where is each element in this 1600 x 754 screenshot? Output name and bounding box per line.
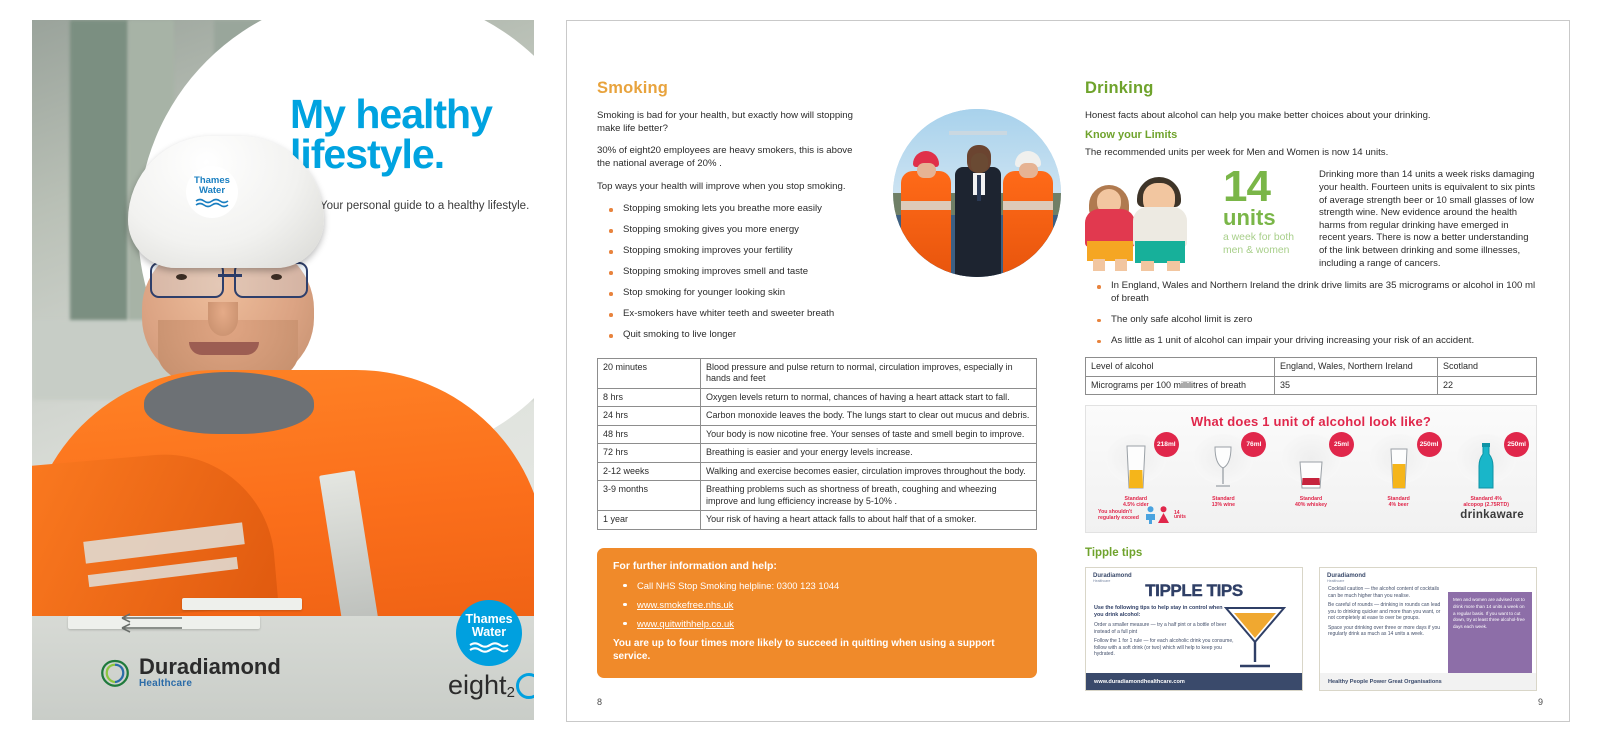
caption-line-2: alcopop (2.75RTD) — [1463, 502, 1509, 508]
card-bullet-1: Cocktail caution — the alcohol content o… — [1320, 583, 1456, 599]
quitwithhelp-link[interactable]: www.quitwithhelp.co.uk — [637, 618, 734, 629]
smoking-section: Smoking Smoking is bad for your health, … — [597, 79, 1037, 678]
cell-effect: Carbon monoxide leaves the body. The lun… — [701, 407, 1037, 426]
tipple-tips-card-1: Duradiamond Healthcare TIPPLE TIPS Use t… — [1085, 567, 1303, 691]
cell-time: 1 year — [598, 511, 701, 530]
pint-glass-icon — [1123, 444, 1149, 490]
tw-logo-line-2: Water — [472, 625, 506, 639]
cell-effect: Your risk of having a heart attack falls… — [701, 511, 1037, 530]
woman-icon — [1157, 506, 1170, 524]
duradiamond-sub: Healthcare — [139, 678, 281, 689]
alcohol-limits-table: Level of alcohol England, Wales, Norther… — [1085, 357, 1537, 395]
table-row: 8 hrs Oxygen levels return to normal, ch… — [598, 388, 1037, 407]
list-item-link[interactable]: www.smokefree.nhs.uk — [613, 599, 1021, 610]
beer-glass-icon — [1387, 446, 1411, 490]
cell-time: 20 minutes — [598, 358, 701, 388]
cell-time: 72 hrs — [598, 444, 701, 463]
cell-effect: Walking and exercise becomes easier, cir… — [701, 462, 1037, 481]
cell-ew-ni-value: 35 — [1275, 376, 1438, 395]
eight20-logo: eight2 — [448, 670, 534, 701]
smoking-help-callout: For further information and help: Call N… — [597, 548, 1037, 678]
eighto-circle-icon — [516, 673, 534, 699]
caption-line-1: Standard — [1300, 496, 1322, 502]
units-caption-line-1: a week for both — [1223, 232, 1309, 244]
cell-measure: Micrograms per 100 millilitres of breath — [1086, 376, 1275, 395]
units-paragraph: Drinking more than 14 units a week risks… — [1319, 169, 1537, 270]
callout-footer: You are up to four times more likely to … — [613, 637, 1021, 664]
water-wave-icon — [195, 197, 229, 208]
tipple-tips-heading: Tipple tips — [1085, 547, 1537, 559]
tumbler-glass-icon — [1296, 458, 1326, 490]
drink-item-whiskey: 25ml Standard 40% whiskey — [1274, 438, 1348, 490]
table-row: 3-9 months Breathing problems such as sh… — [598, 481, 1037, 511]
table-row: 20 minutes Blood pressure and pulse retu… — [598, 358, 1037, 388]
card-side-panel: Men and women are advised not to drink m… — [1448, 592, 1532, 682]
callout-list: Call NHS Stop Smoking helpline: 0300 123… — [613, 580, 1021, 629]
caption-line-2: 13% wine — [1212, 502, 1235, 508]
title-line-2: lifestyle. — [290, 134, 534, 174]
drinking-intro: Honest facts about alcohol can help you … — [1085, 110, 1537, 123]
list-item: Ex-smokers have whiter teeth and sweeter… — [597, 308, 1037, 320]
drink-item-wine: 76ml Standard 13% wine — [1186, 438, 1260, 490]
footer-units-label: units — [1174, 515, 1186, 520]
footer-line-1: You shouldn't — [1098, 509, 1132, 515]
table-row: Micrograms per 100 millilitres of breath… — [1086, 376, 1537, 395]
list-item: The only safe alcohol limit is zero — [1085, 314, 1537, 326]
caption-line-1: Standard — [1212, 496, 1234, 502]
volume-badge: 250ml — [1417, 432, 1442, 457]
worker-mouth — [189, 342, 259, 355]
drink-item-alcopop: 250ml Standard 4% alcopop (2.75RTD) — [1449, 438, 1523, 490]
list-item: Stop smoking for younger looking skin — [597, 287, 1037, 299]
cover-page: My healthy lifestyle. Your personal guid… — [32, 20, 534, 720]
helmet-badge-line-2: Water — [199, 185, 225, 196]
cell-time: 8 hrs — [598, 388, 701, 407]
cell-effect: Breathing is easier and your energy leve… — [701, 444, 1037, 463]
smokefree-link[interactable]: www.smokefree.nhs.uk — [637, 599, 733, 610]
card-footer-bar: www.duradiamondhealthcare.com — [1086, 673, 1303, 690]
volume-badge: 25ml — [1329, 432, 1354, 457]
recommended-units-text: The recommended units per week for Men a… — [1085, 147, 1537, 160]
table-row: 24 hrs Carbon monoxide leaves the body. … — [598, 407, 1037, 426]
title-line-1: My healthy — [290, 94, 534, 134]
cocktail-glass-icon — [1222, 600, 1288, 672]
list-item-link[interactable]: www.quitwithhelp.co.uk — [613, 618, 1021, 629]
jacket-collar — [144, 372, 314, 434]
list-item: In England, Wales and Northern Ireland t… — [1085, 280, 1537, 305]
list-item: As little as 1 unit of alcohol can impai… — [1085, 335, 1537, 347]
duradiamond-name: Duradiamond — [139, 656, 281, 678]
caption-line-2: 40% whiskey — [1295, 502, 1327, 508]
crew-photograph — [893, 109, 1061, 277]
thames-water-helmet-badge: Thames Water — [186, 166, 238, 218]
page-title: My healthy lifestyle. — [290, 94, 534, 174]
card-bullet-1: Order a smaller measure — try a half pin… — [1086, 619, 1237, 635]
footer-line-2: regularly exceed — [1098, 515, 1139, 521]
cell-time: 2-12 weeks — [598, 462, 701, 481]
cover-subtitle: Your personal guide to a healthy lifesty… — [320, 200, 534, 212]
table-row: 1 year Your risk of having a heart attac… — [598, 511, 1037, 530]
caption-line-1: Standard — [1125, 496, 1147, 502]
cell-time: 24 hrs — [598, 407, 701, 426]
table-row: 48 hrs Your body is now nicotine free. Y… — [598, 425, 1037, 444]
volume-badge: 250ml — [1504, 432, 1529, 457]
drink-item-beer: 250ml Standard 4% beer — [1362, 438, 1436, 490]
card-footer-bar: Healthy People Power Great Organisations — [1320, 673, 1537, 690]
list-item: Quit smoking to live longer — [597, 329, 1037, 341]
tipple-tips-card-2: Duradiamond Healthcare Cocktail caution … — [1319, 567, 1537, 691]
units-infographic: 14 units a week for both men & women Dri… — [1085, 169, 1537, 270]
document-spread: Smoking Smoking is bad for your health, … — [566, 20, 1570, 722]
header-scotland: Scotland — [1438, 358, 1537, 377]
smoking-timeline-table: 20 minutes Blood pressure and pulse retu… — [597, 358, 1037, 530]
man-icon — [1144, 506, 1157, 524]
cell-effect: Oxygen levels return to normal, chances … — [701, 388, 1037, 407]
units-number-block: 14 units a week for both men & women — [1223, 169, 1309, 257]
drinkaware-footer: You shouldn't regularly exceed 14 units … — [1092, 506, 1530, 524]
drinking-section: Drinking Honest facts about alcohol can … — [1085, 79, 1537, 691]
page-number-right: 9 — [1538, 697, 1543, 707]
caption-line-2: 4.5% cider — [1123, 502, 1149, 508]
table-row: Level of alcohol England, Wales, Norther… — [1086, 358, 1537, 377]
volume-badge: 218ml — [1154, 432, 1179, 457]
header-england-wales-ni: England, Wales, Northern Ireland — [1275, 358, 1438, 377]
callout-heading: For further information and help: — [613, 560, 1021, 572]
card-logo: Duradiamond Healthcare — [1320, 568, 1536, 583]
eighto-sub: 2 — [507, 684, 515, 701]
smoking-paragraph-2: 30% of eight20 employees are heavy smoke… — [597, 145, 867, 170]
card-lead: Use the following tips to help stay in c… — [1086, 601, 1232, 619]
drink-item-cider: 218ml Standard 4.5% cider — [1099, 438, 1173, 490]
smoking-paragraph-1: Smoking is bad for your health, but exac… — [597, 110, 867, 135]
drinking-heading: Drinking — [1085, 79, 1537, 98]
cell-time: 48 hrs — [598, 425, 701, 444]
cell-scotland-value: 22 — [1438, 376, 1537, 395]
drinkaware-brand: drinkaware — [1460, 509, 1524, 521]
duradiamond-mark-icon — [100, 658, 130, 688]
worker-nose — [208, 302, 238, 336]
caption-line-2: 4% beer — [1389, 502, 1409, 508]
couple-illustration — [1085, 169, 1213, 269]
volume-badge: 76ml — [1241, 432, 1266, 457]
know-your-limits-subheading: Know your Limits — [1085, 129, 1537, 141]
caption-line-1: Standard — [1387, 496, 1409, 502]
page-number-left: 8 — [597, 697, 602, 707]
units-word: units — [1223, 207, 1309, 229]
drinkaware-infographic: What does 1 unit of alcohol look like? 2… — [1085, 405, 1537, 533]
table-row: 2-12 weeks Walking and exercise becomes … — [598, 462, 1037, 481]
units-caption-line-2: men & women — [1223, 245, 1309, 257]
water-wave-icon — [468, 641, 510, 654]
units-number: 14 — [1223, 169, 1309, 205]
tw-logo-line-1: Thames — [465, 612, 512, 626]
wine-glass-icon — [1210, 444, 1236, 490]
smoking-heading: Smoking — [597, 79, 1037, 98]
hard-hat: Thames Water — [128, 136, 324, 268]
caption-line-1: Standard 4% — [1470, 496, 1501, 502]
header-level-of-alcohol: Level of alcohol — [1086, 358, 1275, 377]
thames-water-logo: Thames Water — [456, 600, 522, 666]
card-bullet-3: Space your drinking over three or more d… — [1320, 622, 1456, 638]
eighto-text: eight — [448, 670, 507, 701]
list-item: Call NHS Stop Smoking helpline: 0300 123… — [613, 580, 1021, 591]
duradiamond-logo: Duradiamond Healthcare — [100, 656, 281, 689]
cell-time: 3-9 months — [598, 481, 701, 511]
table-row: 72 hrs Breathing is easier and your ener… — [598, 444, 1037, 463]
drinking-bullets: In England, Wales and Northern Ireland t… — [1085, 280, 1537, 347]
card-bullet-2: Be careful of rounds — drinking in round… — [1320, 599, 1456, 622]
cell-effect: Breathing problems such as shortness of … — [701, 481, 1037, 511]
alcopop-bottle-icon — [1476, 442, 1496, 490]
drinkaware-title: What does 1 unit of alcohol look like? — [1092, 414, 1530, 429]
card-title: TIPPLE TIPS — [1086, 581, 1302, 601]
cell-effect: Your body is now nicotine free. Your sen… — [701, 425, 1037, 444]
cell-effect: Blood pressure and pulse return to norma… — [701, 358, 1037, 388]
tipple-tips-cards: Duradiamond Healthcare TIPPLE TIPS Use t… — [1085, 567, 1537, 691]
arrow-icon — [112, 612, 222, 634]
